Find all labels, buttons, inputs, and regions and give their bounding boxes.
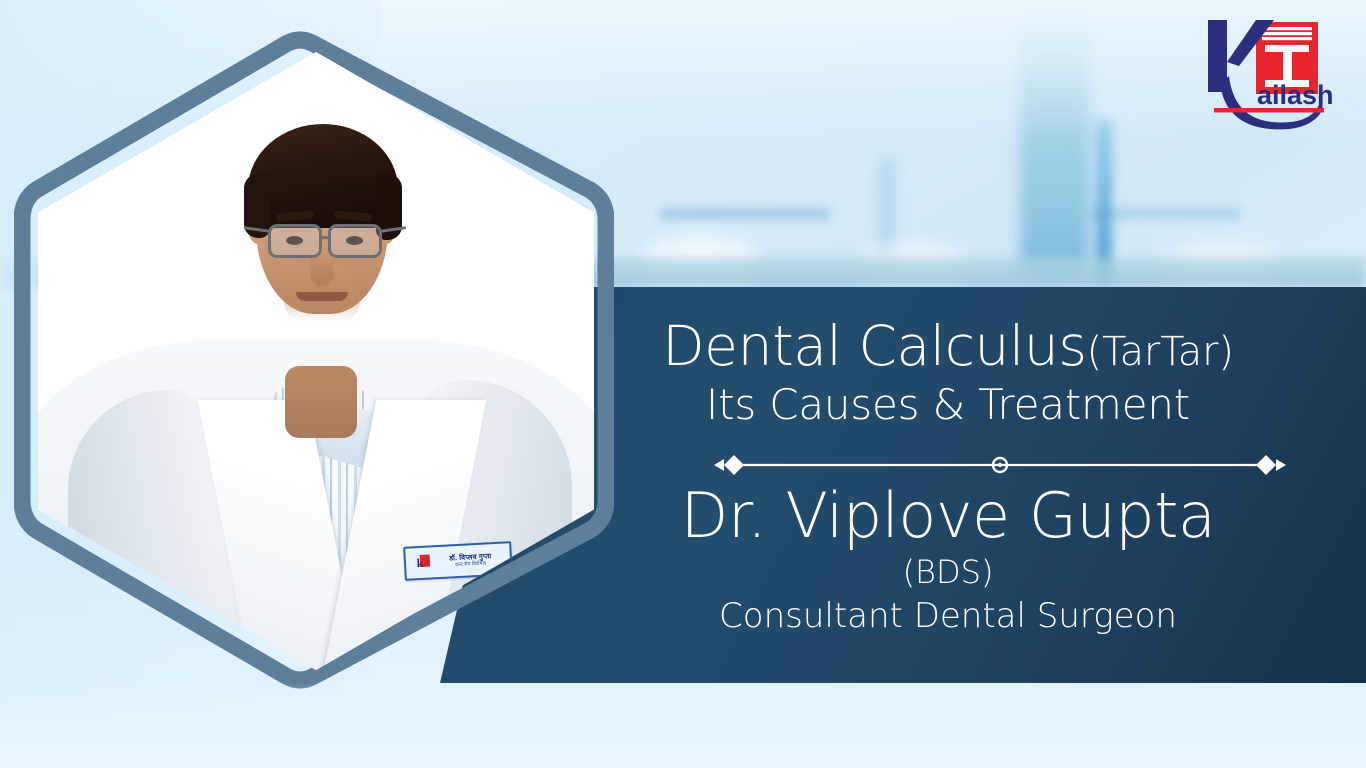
- divider-diamond-left-icon: [724, 455, 744, 475]
- page-subtitle: Its Causes & Treatment: [530, 379, 1366, 432]
- badge-logo-k: k: [416, 555, 423, 570]
- badge-kailash-logo-icon: k: [408, 551, 431, 574]
- doctor-role: Consultant Dental Surgeon: [530, 595, 1366, 638]
- doctor-name: Dr. Viplove Gupta: [530, 482, 1366, 550]
- logo-red-underline: [1214, 108, 1324, 113]
- doctor-promo-banner: k डॉ. विप्लव गुप्ता दन्त रोग विशेषज्ञ De…: [0, 0, 1366, 768]
- doctor-identity-block: Dr. Viplove Gupta (BDS) Consultant Denta…: [530, 482, 1366, 638]
- background-shelf-left: [660, 210, 830, 218]
- page-title-text: Dental Calculus: [662, 314, 1086, 378]
- doctor-degree: (BDS): [530, 552, 1366, 592]
- doctor-photo-frame: k डॉ. विप्लव गुप्ता दन्त रोग विशेषज्ञ: [14, 30, 614, 690]
- eyeglasses-bridge: [321, 236, 331, 239]
- neck: [285, 366, 357, 438]
- kailash-logo-icon: ailash: [1194, 14, 1344, 134]
- background-pillar-accent: [1096, 120, 1112, 280]
- headline-block: Dental Calculus(TarTar) Its Causes & Tre…: [530, 318, 1366, 431]
- kailash-logo[interactable]: ailash: [1194, 14, 1344, 134]
- page-title: Dental Calculus(TarTar): [530, 318, 1366, 375]
- ornamental-divider: [710, 452, 1290, 478]
- nose: [310, 252, 334, 286]
- logo-wordmark: ailash: [1257, 80, 1334, 110]
- divider-icon: [710, 452, 1290, 478]
- mouth: [296, 292, 348, 301]
- page-title-suffix: (TarTar): [1087, 329, 1234, 375]
- background-shelf-right: [1090, 210, 1240, 217]
- eyeglasses-lens-right: [328, 224, 382, 258]
- chin-shade: [284, 302, 360, 322]
- divider-diamond-right-icon: [1256, 455, 1276, 475]
